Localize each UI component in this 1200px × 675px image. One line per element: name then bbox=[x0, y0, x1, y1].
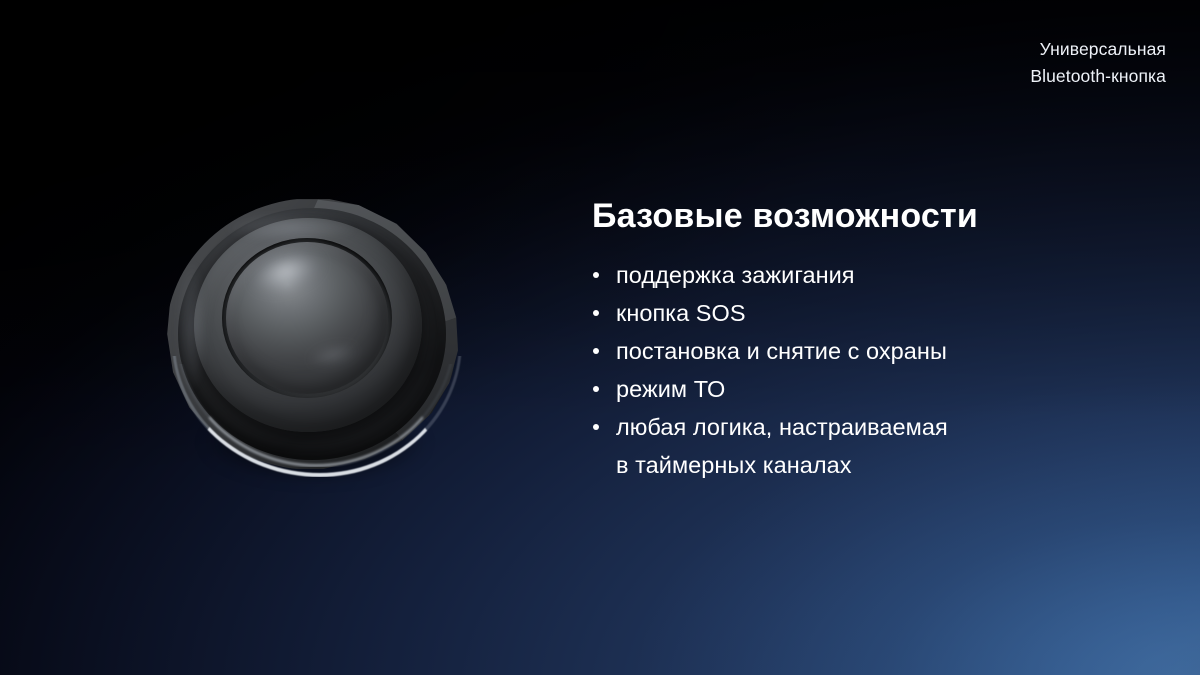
bullet-dot-icon bbox=[593, 348, 599, 354]
product-caption: Универсальная Bluetooth-кнопка bbox=[1030, 36, 1166, 90]
list-item: любая логика, настраиваемая в таймерных … bbox=[592, 408, 1062, 484]
device-top-edge-light bbox=[206, 200, 376, 240]
list-item-label: любая логика, настраиваемая bbox=[616, 414, 948, 440]
product-caption-line-2: Bluetooth-кнопка bbox=[1030, 63, 1166, 90]
feature-list: поддержка зажигания кнопка SOS постановк… bbox=[592, 256, 1062, 484]
list-item-label: кнопка SOS bbox=[616, 300, 746, 326]
product-render-stage bbox=[150, 182, 480, 490]
page-title: Базовые возможности bbox=[592, 196, 1062, 236]
list-item: режим ТО bbox=[592, 370, 1062, 408]
bullet-dot-icon bbox=[593, 386, 599, 392]
content-column: Базовые возможности поддержка зажигания … bbox=[592, 196, 1062, 484]
presentation-slide: Универсальная Bluetooth-кнопка Базовые в… bbox=[0, 0, 1200, 675]
bullet-dot-icon bbox=[593, 424, 599, 430]
bullet-dot-icon bbox=[593, 272, 599, 278]
list-item-label: режим ТО bbox=[616, 376, 725, 402]
product-image-bluetooth-button bbox=[150, 182, 480, 490]
list-item: поддержка зажигания bbox=[592, 256, 1062, 294]
list-item: постановка и снятие с охраны bbox=[592, 332, 1062, 370]
list-item-label-wrapped: в таймерных каналах bbox=[616, 446, 1062, 484]
list-item: кнопка SOS bbox=[592, 294, 1062, 332]
list-item-label: поддержка зажигания bbox=[616, 262, 855, 288]
list-item-label: постановка и снятие с охраны bbox=[616, 338, 947, 364]
bullet-dot-icon bbox=[593, 310, 599, 316]
product-caption-line-1: Универсальная bbox=[1030, 36, 1166, 63]
